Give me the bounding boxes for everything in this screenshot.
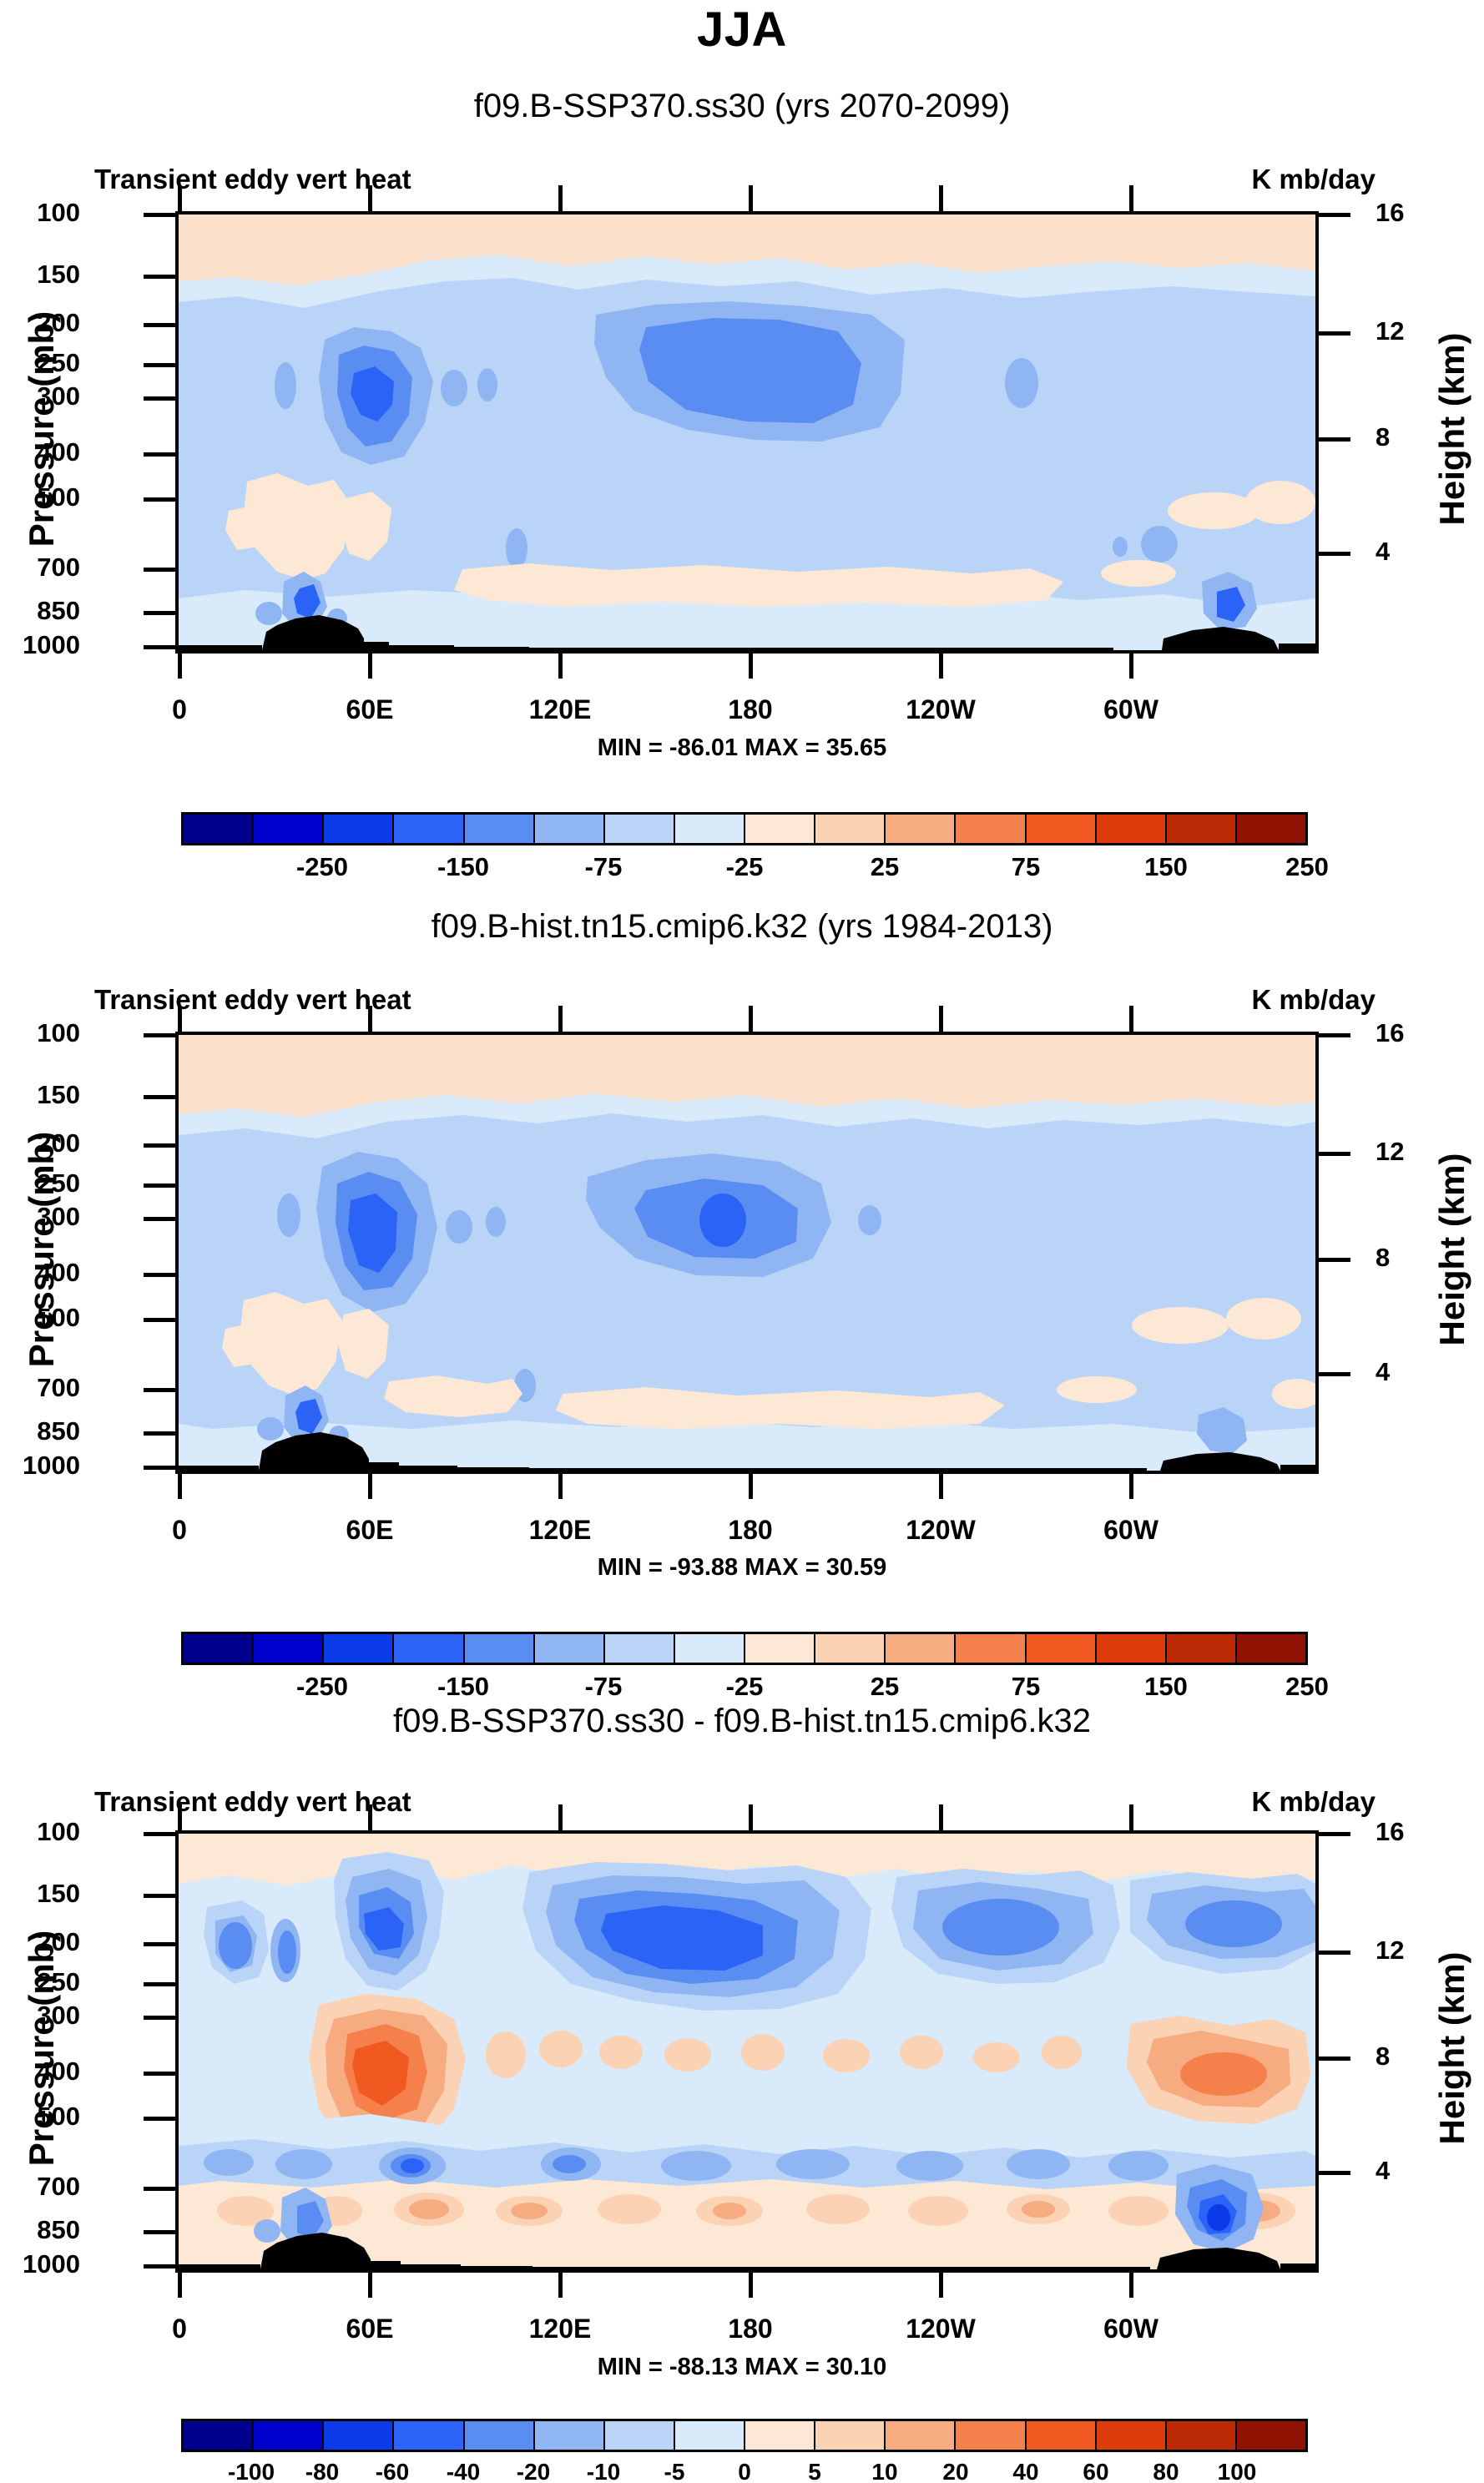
colorbar-cell: [465, 2421, 535, 2450]
ytick-r-8: 8: [1375, 1243, 1390, 1273]
colorbar-cell: [254, 2421, 324, 2450]
xtick-180: 180: [700, 1515, 800, 1546]
colorbar-cell: [886, 2421, 956, 2450]
colorbar-cell: [1027, 2421, 1097, 2450]
ytick-mark: [144, 1388, 175, 1392]
ytick-150: 150: [0, 1080, 80, 1110]
ytick-r-12: 12: [1375, 1935, 1404, 1966]
colorbar-cell: [886, 1634, 956, 1663]
ytick-700: 700: [0, 1373, 80, 1403]
ytick-250: 250: [0, 1967, 80, 1997]
xtick-mark: [1129, 1474, 1133, 1499]
ytick-mark: [144, 1095, 175, 1099]
colorbar-tick: 60: [1083, 2459, 1108, 2483]
xtick-mark-top: [1129, 1804, 1133, 1831]
colorbar-tick: 250: [1285, 1672, 1329, 1702]
colorbar-tick: -20: [517, 2459, 550, 2483]
colorbar-tick: -5: [664, 2459, 685, 2483]
colorbar-tick: 5: [808, 2459, 821, 2483]
contour-plot: [175, 1830, 1319, 2273]
xtick-mark-top: [558, 1006, 563, 1032]
height-axis-title: Height (km): [1432, 1112, 1472, 1387]
colorbar-cell: [1167, 1634, 1237, 1663]
ytick-r-8: 8: [1375, 2041, 1390, 2072]
ytick-mark-right: [1319, 1152, 1350, 1156]
colorbar-cell: [394, 2421, 464, 2450]
ytick-mark: [144, 1832, 175, 1836]
ytick-mark: [144, 1143, 175, 1148]
ytick-200: 200: [0, 1927, 80, 1957]
ytick-200: 200: [0, 1128, 80, 1158]
colorbar-cell: [1097, 2421, 1167, 2450]
ytick-mark: [144, 1431, 175, 1436]
xtick-mark: [178, 1474, 182, 1499]
field-label: Transient eddy vert heat: [94, 1786, 411, 1818]
ytick-mark: [144, 2264, 175, 2269]
ytick-r-16: 16: [1375, 1018, 1404, 1048]
units-label: K mb/day: [1158, 984, 1375, 1016]
colorbar-tick: -10: [587, 2459, 620, 2483]
colorbar-tick: -250: [296, 1672, 348, 1702]
colorbar-tick: 100: [1218, 2459, 1257, 2483]
ytick-mark: [144, 1273, 175, 1277]
colorbar-tick: 10: [871, 2459, 897, 2483]
ytick-r-16: 16: [1375, 1817, 1404, 1847]
xtick-mark: [368, 2273, 372, 2298]
xtick-60W: 60W: [1081, 2314, 1181, 2344]
ytick-mark: [144, 1217, 175, 1221]
colorbar-tick: -75: [585, 1672, 623, 1702]
xtick-mark-top: [939, 1006, 943, 1032]
contour-svg: [179, 1035, 1315, 1471]
ytick-mark: [144, 1183, 175, 1188]
xtick-mark: [178, 2273, 182, 2298]
xtick-mark: [1129, 2273, 1133, 2298]
ytick-mark: [144, 1982, 175, 1986]
ytick-mark: [144, 2072, 175, 2076]
colorbar-cell: [605, 1634, 675, 1663]
field-label: Transient eddy vert heat: [94, 984, 411, 1016]
ytick-mark-right: [1319, 1372, 1350, 1376]
ytick-mark: [144, 2230, 175, 2234]
ytick-100: 100: [0, 1018, 80, 1048]
colorbar-cell: [1097, 1634, 1167, 1663]
xtick-mark-top: [749, 1804, 753, 1831]
colorbar-cell: [1027, 1634, 1097, 1663]
colorbar-tick: 75: [1012, 1672, 1040, 1702]
colorbar-tick: -150: [437, 1672, 489, 1702]
xtick-180: 180: [700, 2314, 800, 2344]
xtick-mark: [749, 2273, 753, 2298]
ytick-mark-right: [1319, 2057, 1350, 2061]
contour-svg: [179, 1834, 1315, 2269]
xtick-mark: [939, 1474, 943, 1499]
colorbar-cell: [1237, 1634, 1305, 1663]
colorbar-cell: [254, 1634, 324, 1663]
xtick-mark-top: [178, 1006, 182, 1032]
ytick-mark-right: [1319, 1832, 1350, 1836]
xtick-mark-top: [178, 1804, 182, 1831]
colorbar-tick: -60: [376, 2459, 409, 2483]
colorbar-cell: [394, 1634, 464, 1663]
ytick-mark: [144, 1466, 175, 1470]
ytick-1000: 1000: [0, 1451, 80, 1481]
colorbar-tick: 80: [1153, 2459, 1179, 2483]
colorbar-cell: [184, 1634, 254, 1663]
ytick-250: 250: [0, 1168, 80, 1199]
colorbar-cell: [956, 1634, 1026, 1663]
colorbar-cell: [535, 1634, 605, 1663]
xtick-mark: [558, 2273, 563, 2298]
colorbar-cell: [184, 2421, 254, 2450]
colorbar-cell: [535, 2421, 605, 2450]
xtick-mark-top: [368, 1804, 372, 1831]
ytick-400: 400: [0, 1258, 80, 1288]
xtick-mark: [939, 2273, 943, 2298]
xtick-mark-top: [558, 1804, 563, 1831]
xtick-120E: 120E: [510, 2314, 610, 2344]
colorbar-tick: -80: [305, 2459, 339, 2483]
xtick-mark-top: [939, 1804, 943, 1831]
ytick-100: 100: [0, 1817, 80, 1847]
ytick-mark: [144, 1894, 175, 1898]
xtick-60E: 60E: [320, 1515, 420, 1546]
figure-page: JJA f09.B-SSP370.ss30 (yrs 2070-2099) Tr…: [0, 0, 1484, 2483]
colorbar-tick: 20: [942, 2459, 968, 2483]
ytick-r-4: 4: [1375, 1357, 1390, 1387]
colorbar-cell: [956, 2421, 1026, 2450]
ytick-700: 700: [0, 2172, 80, 2202]
colorbar-cell: [324, 1634, 394, 1663]
xtick-mark-top: [1129, 1006, 1133, 1032]
ytick-300: 300: [0, 1202, 80, 1232]
xtick-mark: [368, 1474, 372, 1499]
colorbar-cell: [324, 2421, 394, 2450]
colorbar-tick: -40: [447, 2459, 480, 2483]
colorbar-tick: 150: [1144, 1672, 1188, 1702]
ytick-mark: [144, 1942, 175, 1946]
xtick-0: 0: [129, 1515, 230, 1546]
minmax-label: MIN = -88.13 MAX = 30.10: [0, 2354, 1484, 2381]
colorbar-cell: [815, 1634, 886, 1663]
xtick-mark: [749, 1474, 753, 1499]
ytick-850: 850: [0, 1416, 80, 1446]
ytick-mark-right: [1319, 1258, 1350, 1262]
xtick-120W: 120W: [891, 1515, 991, 1546]
panel-title: f09.B-hist.tn15.cmip6.k32 (yrs 1984-2013…: [0, 908, 1484, 946]
colorbar-cell: [1237, 2421, 1305, 2450]
contour-plot: [175, 1032, 1319, 1474]
ytick-mark: [144, 2117, 175, 2121]
units-label: K mb/day: [1158, 1786, 1375, 1818]
colorbar-cell: [1167, 2421, 1237, 2450]
xtick-mark: [558, 1474, 563, 1499]
ytick-400: 400: [0, 2057, 80, 2087]
colorbar-tick: 0: [738, 2459, 751, 2483]
ytick-mark: [144, 2016, 175, 2020]
colorbar-tick: 40: [1012, 2459, 1038, 2483]
ytick-850: 850: [0, 2215, 80, 2245]
xtick-120W: 120W: [891, 2314, 991, 2344]
ytick-150: 150: [0, 1879, 80, 1909]
ytick-r-12: 12: [1375, 1137, 1404, 1167]
colorbar-cell: [745, 2421, 815, 2450]
xtick-120E: 120E: [510, 1515, 610, 1546]
ytick-mark: [144, 1033, 175, 1037]
xtick-0: 0: [129, 2314, 230, 2344]
ytick-1000: 1000: [0, 2249, 80, 2279]
xtick-mark-top: [368, 1006, 372, 1032]
colorbar-strip: [181, 1632, 1308, 1665]
colorbar-cell: [815, 2421, 886, 2450]
colorbar-tick: -100: [228, 2459, 275, 2483]
xtick-60E: 60E: [320, 2314, 420, 2344]
ytick-mark-right: [1319, 1033, 1350, 1037]
colorbar-cell: [465, 1634, 535, 1663]
colorbar-cell: [605, 2421, 675, 2450]
ytick-mark-right: [1319, 2171, 1350, 2175]
colorbar-cell: [745, 1634, 815, 1663]
colorbar-cell: [675, 1634, 745, 1663]
ytick-mark: [144, 2187, 175, 2191]
xtick-mark-top: [749, 1006, 753, 1032]
ytick-500: 500: [0, 1303, 80, 1333]
ytick-mark: [144, 1318, 175, 1322]
ytick-r-4: 4: [1375, 2156, 1390, 2186]
panel-diff: f09.B-SSP370.ss30 - f09.B-hist.tn15.cmip…: [0, 0, 1484, 818]
ytick-500: 500: [0, 2102, 80, 2132]
panel-title: f09.B-SSP370.ss30 - f09.B-hist.tn15.cmip…: [0, 1703, 1484, 1740]
colorbar-cell: [675, 2421, 745, 2450]
colorbar-tick: 25: [871, 1672, 899, 1702]
minmax-label: MIN = -93.88 MAX = 30.59: [0, 1554, 1484, 1582]
colorbar-tick: -25: [726, 1672, 764, 1702]
colorbar-strip: [181, 2419, 1308, 2452]
height-axis-title: Height (km): [1432, 1910, 1472, 2186]
ytick-mark-right: [1319, 1951, 1350, 1955]
xtick-60W: 60W: [1081, 1515, 1181, 1546]
ytick-300: 300: [0, 2001, 80, 2031]
